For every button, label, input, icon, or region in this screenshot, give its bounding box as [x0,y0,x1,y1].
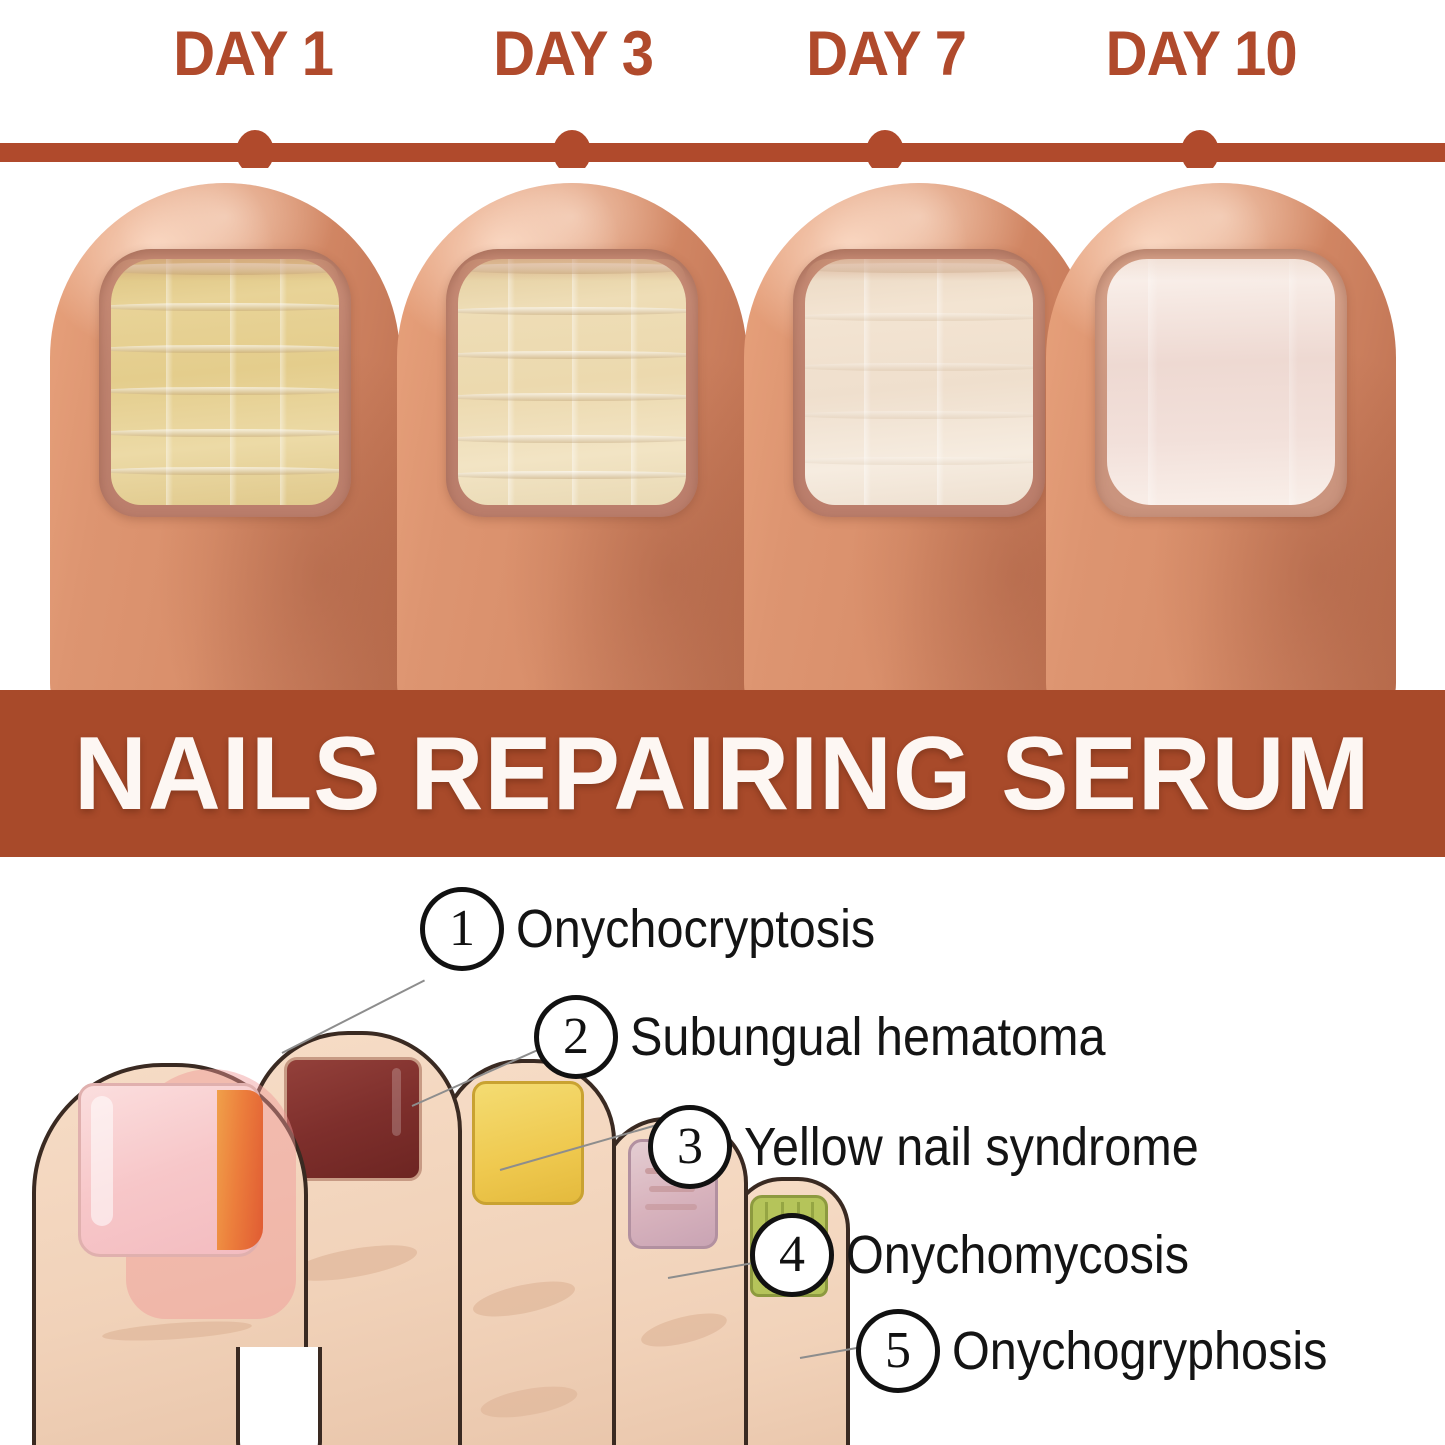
nail-plate-day-3 [458,259,686,505]
nail-plate-day-10 [1107,259,1335,505]
product-infographic: DAY 1 DAY 3 DAY 7 DAY 10 [0,0,1445,1445]
nail-plate-day-1 [111,259,339,505]
timeline-day-labels: DAY 1 DAY 3 DAY 7 DAY 10 [0,18,1445,98]
toe-web-gap [236,1347,322,1445]
day-label-3: DAY 7 [733,18,1039,90]
condition-name-3: Yellow nail syndrome [744,1116,1199,1178]
nail-conditions-diagram: 1 Onychocryptosis 2 Subungual hematoma 3… [0,857,1445,1445]
condition-number-3: 3 [648,1105,732,1189]
day-label-4: DAY 10 [1048,18,1354,90]
condition-number-4: 4 [750,1213,834,1297]
toe-photo-day-3 [397,183,747,693]
condition-name-2: Subungual hematoma [630,1006,1106,1068]
cuticle [458,259,686,281]
condition-number-2: 2 [534,995,618,1079]
day-label-2: DAY 3 [421,18,727,90]
toe-photo-day-10 [1046,183,1396,693]
timeline-bar [0,143,1445,162]
condition-label-1[interactable]: 1 Onychocryptosis [420,887,915,971]
toe-1-nail-onychocryptosis [78,1083,260,1257]
cuticle [111,259,339,281]
condition-label-2[interactable]: 2 Subungual hematoma [534,995,1158,1079]
condition-name-4: Onychomycosis [846,1224,1189,1286]
condition-label-3[interactable]: 3 Yellow nail syndrome [648,1105,1249,1189]
toe-2-nail-subungual-hematoma [284,1057,422,1181]
product-title-banner: NAILS REPAIRING SERUM [0,690,1445,857]
condition-label-5[interactable]: 5 Onychogryphosis [856,1309,1369,1393]
product-title: NAILS REPAIRING SERUM [74,722,1370,826]
nail-plate-day-7 [805,259,1033,505]
condition-name-1: Onychocryptosis [516,898,875,960]
cuticle [1107,259,1335,281]
toe-photo-day-7 [744,183,1094,693]
nail-progression-photos [0,168,1445,693]
cuticle [805,259,1033,281]
condition-number-5: 5 [856,1309,940,1393]
day-label-1: DAY 1 [100,18,406,90]
toe-photo-day-1 [50,183,400,693]
toe-3-nail-yellow-nail-syndrome [472,1081,584,1205]
condition-name-5: Onychogryphosis [952,1320,1327,1382]
condition-number-1: 1 [420,887,504,971]
condition-label-4[interactable]: 4 Onychomycosis [750,1213,1227,1297]
